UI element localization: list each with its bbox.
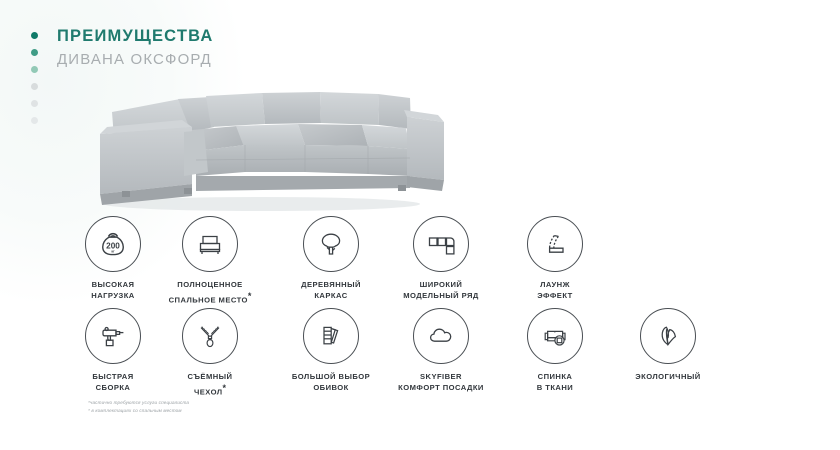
drill-icon [85, 308, 141, 364]
feature-skyfiber[interactable]: SKYFIBER КОМФОРТ ПОСАДКИ [381, 308, 501, 394]
bed-icon [182, 216, 238, 272]
swatch-icon [303, 308, 359, 364]
feature-upholstery-choice[interactable]: БОЛЬШОЙ ВЫБОР ОБИВОК [271, 308, 391, 394]
feature-wooden-frame[interactable]: ДЕРЕВЯННЫЙ КАРКАС [271, 216, 391, 302]
feature-removable-cover[interactable]: СЪЁМНЫЙ ЧЕХОЛ* [150, 308, 270, 398]
leaves-icon [640, 308, 696, 364]
feature-eco[interactable]: ЭКОЛОГИЧНЫЙ [608, 308, 728, 382]
footnote-1: *частично требуются услуги специалиста [88, 399, 189, 407]
feature-label: ЭКОЛОГИЧНЫЙ [608, 371, 728, 382]
feature-label: ДЕРЕВЯННЫЙ КАРКАС [271, 279, 391, 302]
modules-icon [413, 216, 469, 272]
page-title-primary: ПРЕИМУЩЕСТВА [57, 26, 214, 48]
bullet-dot-6 [31, 117, 38, 124]
zipper-icon [182, 308, 238, 364]
feature-model-range[interactable]: ШИРОКИЙ МОДЕЛЬНЫЙ РЯД [381, 216, 501, 302]
feature-sleeping-place[interactable]: ПОЛНОЦЕННОЕ СПАЛЬНОЕ МЕСТО* [150, 216, 270, 306]
bullet-dot-3 [31, 66, 38, 73]
feature-label: ШИРОКИЙ МОДЕЛЬНЫЙ РЯД [381, 279, 501, 302]
cloud-icon [413, 308, 469, 364]
feature-label: СЪЁМНЫЙ ЧЕХОЛ* [150, 371, 270, 398]
page-title: ПРЕИМУЩЕСТВА ДИВАНА ОКСФОРД [57, 26, 214, 70]
feature-label: SKYFIBER КОМФОРТ ПОСАДКИ [381, 371, 501, 394]
feature-label: БОЛЬШОЙ ВЫБОР ОБИВОК [271, 371, 391, 394]
footnotes: *частично требуются услуги специалиста *… [88, 399, 189, 416]
feature-grid: 200 кг ВЫСОКАЯ НАГРУЗКА ПОЛНОЦЕННОЕ СПАЛ… [0, 216, 840, 400]
bullet-dot-column [31, 32, 38, 124]
bullet-dot-2 [31, 49, 38, 56]
svg-text:кг: кг [111, 249, 115, 253]
footnote-mark: * [248, 291, 252, 301]
weight-icon: 200 кг [85, 216, 141, 272]
lounge-icon [527, 216, 583, 272]
feature-lounge-effect[interactable]: ЛАУНЖ ЭФФЕКТ [495, 216, 615, 302]
sofa-zoom-icon [527, 308, 583, 364]
feature-label: ЛАУНЖ ЭФФЕКТ [495, 279, 615, 302]
page-title-secondary: ДИВАНА ОКСФОРД [57, 50, 214, 70]
tree-icon [303, 216, 359, 272]
feature-label: ПОЛНОЦЕННОЕ СПАЛЬНОЕ МЕСТО* [150, 279, 270, 306]
bullet-dot-5 [31, 100, 38, 107]
feature-fabric-back[interactable]: СПИНКА В ТКАНИ [495, 308, 615, 394]
footnote-mark: * [223, 383, 227, 393]
bullet-dot-4 [31, 83, 38, 90]
footnote-2: * в комплектациях со спальным местом [88, 407, 189, 415]
bullet-dot-1 [31, 32, 38, 39]
feature-row-1: 200 кг ВЫСОКАЯ НАГРУЗКА ПОЛНОЦЕННОЕ СПАЛ… [0, 216, 840, 308]
promo-page: ПРЕИМУЩЕСТВА ДИВАНА ОКСФОРД [0, 0, 840, 450]
feature-label: СПИНКА В ТКАНИ [495, 371, 615, 394]
feature-row-2: БЫСТРАЯ СБОРКА СЪЁМНЫЙ ЧЕХОЛ* [0, 308, 840, 400]
product-image-sofa [62, 72, 452, 217]
